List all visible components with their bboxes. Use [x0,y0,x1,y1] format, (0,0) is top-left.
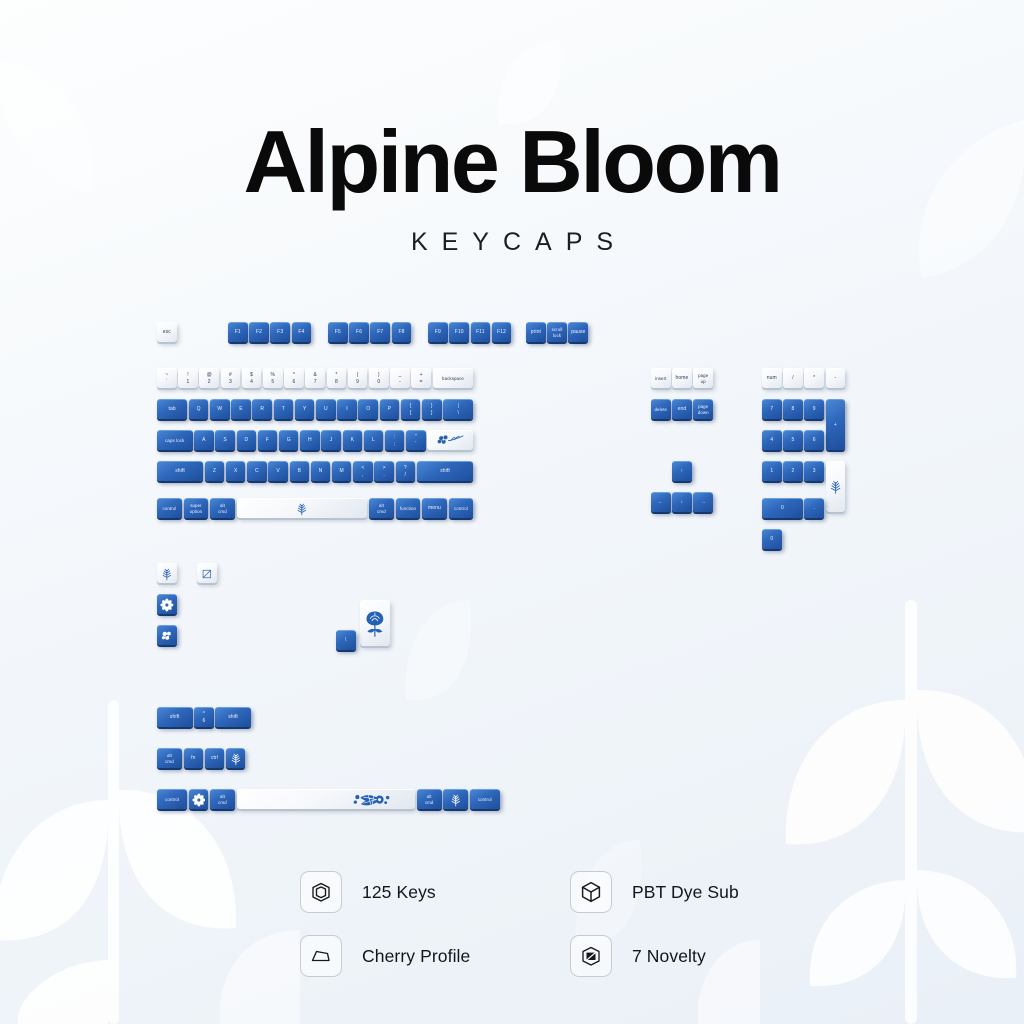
keycap-y[interactable]: Y [295,399,315,419]
keycap-legend: F3 [277,329,283,335]
keycap-legend: E [239,406,242,412]
keycap-legend: 7 [770,406,773,412]
keycap-legend: + [834,422,837,428]
keycap-legend: } ] [431,403,433,416]
keycap-key[interactable]: \ [336,630,356,650]
keycap-t[interactable]: T [274,399,294,419]
keycap-u[interactable]: U [316,399,336,419]
keycap-alt-cmd[interactable]: alt cmd [369,498,394,518]
keycap-scroll-lock[interactable]: scroll lock [547,322,567,342]
keycap-key[interactable]: { [ [401,399,421,419]
keycap-fern-white-on-blue[interactable] [443,789,468,809]
keycap-key[interactable]: ↓ [672,492,692,512]
keycap-legend: print [531,329,541,335]
keycap-3[interactable]: 3 [804,461,824,481]
keycap-legend: F2 [256,329,262,335]
keycap-f11[interactable]: F11 [471,322,491,342]
keycap-spacebar-bloom[interactable] [237,789,416,809]
keycap-legend: Q [197,406,201,412]
keycap-legend: ctrl [211,755,218,761]
keycap-pause[interactable]: pause [568,322,588,342]
keycap-legend: F [266,437,269,443]
keycap-legend: C [255,468,259,474]
keycap-flower-sprig[interactable] [427,430,473,450]
keycap-legend: W [217,406,222,412]
keycap-w[interactable]: W [210,399,230,419]
keycap-legend: H [308,437,312,443]
keycap-legend: control [165,797,179,803]
profile-icon [300,935,342,977]
keycap-i[interactable]: I [337,399,357,419]
keycap-key[interactable]: → [693,492,713,512]
keycap-shift[interactable]: shift [417,461,474,481]
keycap-legend: * 8 [335,372,338,385]
keycap-legend: " ' [415,434,417,447]
keycap-key[interactable]: < , [353,461,373,481]
spacebar-bloom-icon [348,791,394,808]
keycap-legend: < , [361,465,364,478]
keycap-legend: # 3 [229,372,232,385]
keycap-legend: : ; [394,434,396,447]
keycap-legend: insert [655,376,666,382]
keycap-legend: ^ 6 [202,711,205,724]
keycap-f9[interactable]: F9 [428,322,448,342]
keycap-legend: . [813,505,815,511]
keycap-legend: shift [228,714,238,720]
keycap-legend: ← [658,499,663,505]
keycap-legend: > . [383,465,386,478]
keycap-legend: N [319,468,323,474]
keycap-fern-small[interactable] [157,563,177,583]
keycap-legend: F11 [476,329,485,335]
keycap-legend: control [454,506,468,512]
keycap-2[interactable]: 2 [783,461,803,481]
keycap-legend: shift [440,468,450,474]
keycap-q[interactable]: Q [189,399,209,419]
keycap-function[interactable]: function [396,498,421,518]
keycap-alt-cmd[interactable]: alt cmd [157,748,182,768]
keycap-7[interactable]: & 7 [305,368,325,388]
keycap-legend: Y [303,406,306,412]
keycap-0[interactable]: 0 [762,498,803,518]
keycap-legend: shift [170,714,180,720]
keycap-fn[interactable]: fn [184,748,204,768]
fern-small-icon [160,567,174,581]
keycap-legend: alt cmd [218,503,227,514]
keycap-legend: F12 [497,329,506,335]
keycap-legend: F1 [235,329,241,335]
fern-icon [256,502,348,516]
keycap-legend: 1 [770,468,773,474]
header: Alpine Bloom KEYCAPS [0,118,1024,257]
keycap-9[interactable]: ( 9 [348,368,368,388]
keycap-r[interactable]: R [252,399,272,419]
keycap-key[interactable]: / [783,368,803,388]
keycap-legend: U [324,406,328,412]
novelty-keycap-icon [570,935,612,977]
keycap-legend: ! 1 [187,372,190,385]
blossom-white-icon [160,629,174,643]
spec-item-7-novelty: 7 Novelty [570,924,840,988]
keycap-j[interactable]: J [321,430,341,450]
keycap-9[interactable]: 9 [804,399,824,419]
keycap-slash-box[interactable] [197,563,217,583]
slash-box-icon [200,567,214,581]
keycap-key[interactable]: ← [651,492,671,512]
keycap-insert[interactable]: insert [651,368,671,388]
keycap-legend: ( 9 [356,372,359,385]
keycap-key[interactable]: ~ ` [157,368,177,388]
keycap-key[interactable]: } ] [422,399,442,419]
keycap-legend: 0 [781,505,784,511]
keycap-f10[interactable]: F10 [449,322,469,342]
keycap-p[interactable]: P [380,399,400,419]
keycap-legend: 3 [813,468,816,474]
keycap-key[interactable]: > . [374,461,394,481]
keycap-d[interactable]: D [237,430,257,450]
keycap-legend: page down [698,404,709,415]
keycap-key[interactable]: _ - [390,368,410,388]
keycap-legend: alt cmd [165,753,174,764]
keycap-legend: alt cmd [425,794,434,805]
keycap-legend: → [701,499,706,505]
keycap-legend: control [163,506,177,512]
keycap-tab[interactable]: tab [157,399,187,419]
keycap-legend: 5 [792,437,795,443]
keycap-legend: I [346,406,348,412]
keycap-legend: 8 [792,406,795,412]
keycap-legend: esc [163,329,171,335]
keycap-legend: | \ [458,403,460,416]
keycap-0[interactable]: 0 [762,529,782,549]
keycap-key[interactable]: ↑ [672,461,692,481]
keycap-legend: _ - [399,372,402,385]
keycap-1[interactable]: 1 [762,461,782,481]
flower-sprig-icon [436,433,465,447]
keycap-fern[interactable] [237,498,368,518]
keycap-legend: alt cmd [377,503,386,514]
keycap-legend: fn [191,755,195,761]
keycap-0[interactable]: ) 0 [369,368,389,388]
keycap-alt-cmd[interactable]: alt cmd [417,789,442,809]
keycap-legend: A [202,437,205,443]
keycap-legend: 2 [792,468,795,474]
keycap-legend: & 7 [313,372,316,385]
spec-badge-grid: 125 Keys PBT Dye Sub Cherry Profile [300,860,840,988]
keycap-legend: B [298,468,301,474]
keycap-key[interactable]: ? / [396,461,416,481]
keycap-control[interactable]: control [470,789,500,809]
keycap-x[interactable]: X [226,461,246,481]
keycap-page-up[interactable]: page up [693,368,713,388]
keycap-legend: super option [190,503,203,514]
page-subtitle: KEYCAPS [0,228,1024,257]
keycap-legend: * [813,375,815,381]
keycap-7[interactable]: 7 [762,399,782,419]
keycap-legend: pause [571,329,585,335]
fern-white-on-blue-icon [229,752,243,766]
keycap-legend: shift [175,468,185,474]
keycap-c[interactable]: C [247,461,267,481]
keycap-f12[interactable]: F12 [492,322,512,342]
keycap-5[interactable]: % 5 [263,368,283,388]
keycap-f8[interactable]: F8 [392,322,412,342]
keycap-backspace[interactable]: backspace [433,368,474,388]
keycap-f4[interactable]: F4 [292,322,312,342]
keycap-legend: \ [345,637,347,643]
keycap-fern-tall[interactable] [826,461,846,512]
flower-white-on-blue-icon [192,793,206,807]
keycap-legend: ^ 6 [293,372,296,385]
keycap-b[interactable]: B [290,461,310,481]
keycap-legend: @ 2 [207,372,212,385]
keycap-4[interactable]: 4 [762,430,782,450]
spec-label: Cherry Profile [362,946,470,967]
page-title: Alpine Bloom [0,118,1024,206]
keycap-legend: ) 0 [377,372,380,385]
keycap-legend: P [388,406,391,412]
keycap-s[interactable]: S [215,430,235,450]
keycap-key[interactable]: " ' [406,430,426,450]
keycap-legend: F8 [398,329,404,335]
keycap-legend: S [223,437,226,443]
keycap-alt-cmd[interactable]: alt cmd [210,789,235,809]
keycap-legend: R [260,406,264,412]
keycap-home[interactable]: home [672,368,692,388]
keycap-3[interactable]: # 3 [221,368,241,388]
keycap-legend: 6 [813,437,816,443]
spec-item-125-keys: 125 Keys [300,860,570,924]
spec-label: 125 Keys [362,882,436,903]
keycap-num[interactable]: num [762,368,782,388]
keycap-legend: function [400,506,416,512]
keycap-key[interactable]: . [804,498,824,518]
keycap-6[interactable]: ^ 6 [194,707,214,727]
keycap-legend: + = [420,372,423,385]
keycap-f1[interactable]: F1 [228,322,248,342]
keycap-caps-lock[interactable]: caps lock [157,430,193,450]
keycap-f3[interactable]: F3 [270,322,290,342]
fern-tall-icon [828,470,843,504]
keycap-legend: { [ [410,403,412,416]
keycap-esc[interactable]: esc [157,322,177,342]
keycap-menu[interactable]: menu [422,498,447,518]
keycap-5[interactable]: 5 [783,430,803,450]
keycap-legend: backspace [442,376,464,382]
spec-label: PBT Dye Sub [632,882,739,903]
keycap-f5[interactable]: F5 [328,322,348,342]
keycap-legend: F7 [377,329,383,335]
fern-white-on-blue-icon [447,793,464,807]
keycap-key[interactable]: + = [411,368,431,388]
keycap-legend: page up [698,373,708,384]
keycap-g[interactable]: G [279,430,299,450]
keycap-key[interactable]: - [826,368,846,388]
keycap-legend: X [234,468,237,474]
keycap-8[interactable]: * 8 [327,368,347,388]
keycap-a[interactable]: A [194,430,214,450]
keycap-legend: 9 [813,406,816,412]
keycap-key[interactable]: + [826,399,846,450]
keycap-f6[interactable]: F6 [349,322,369,342]
keycap-control[interactable]: control [157,498,182,518]
keycap-legend: tab [168,406,175,412]
keycap-legend: home [676,375,689,381]
keycap-super-option[interactable]: super option [184,498,209,518]
daisy-white-icon [160,598,174,612]
keycap-6[interactable]: ^ 6 [284,368,304,388]
keycap-daisy-white[interactable] [157,594,177,614]
keycap-f[interactable]: F [258,430,278,450]
keycap-legend: % 5 [271,372,276,385]
keycap-flower-white-on-blue[interactable] [189,789,209,809]
keycap-key[interactable]: : ; [385,430,405,450]
keycap-legend: ↑ [681,468,684,474]
keycap-legend: D [244,437,248,443]
keycap-control[interactable]: control [449,498,474,518]
keycap-legend: caps lock [165,438,184,444]
keycap-legend: $ 4 [250,372,253,385]
keycap-icon [300,871,342,913]
keycap-legend: delete [655,407,668,413]
keycap-f2[interactable]: F2 [249,322,269,342]
keycap-legend: 0 [770,536,773,542]
keycap-legend: control [478,797,492,803]
keycap-legend: O [366,406,370,412]
keycap-n[interactable]: N [311,461,331,481]
keycap-e[interactable]: E [231,399,251,419]
keycap-control[interactable]: control [157,789,187,809]
keycap-legend: scroll lock [552,327,563,338]
keycap-legend: ↓ [681,499,684,505]
keycap-8[interactable]: 8 [783,399,803,419]
keycap-6[interactable]: 6 [804,430,824,450]
keycap-shift[interactable]: shift [157,707,193,727]
keycap-o[interactable]: O [358,399,378,419]
spec-item-pbt-dye-sub: PBT Dye Sub [570,860,840,924]
keycap-alt-cmd[interactable]: alt cmd [210,498,235,518]
keycap-legend: J [330,437,333,443]
keycap-legend: F9 [435,329,441,335]
keycap-l[interactable]: L [364,430,384,450]
keycap-2[interactable]: @ 2 [199,368,219,388]
keycap-v[interactable]: V [268,461,288,481]
keycap-blossom-white[interactable] [157,625,177,645]
keycap-h[interactable]: H [300,430,320,450]
keycap-ctrl[interactable]: ctrl [205,748,225,768]
keycap-legend: V [276,468,279,474]
keycap-legend: menu [428,505,441,511]
keycap-rose-tall[interactable] [360,600,390,646]
keycap-legend: 4 [770,437,773,443]
keycap-shift[interactable]: shift [215,707,251,727]
keycap-legend: end [678,406,687,412]
keycap-key[interactable]: | \ [443,399,473,419]
spec-label: 7 Novelty [632,946,706,967]
keycap-z[interactable]: Z [205,461,225,481]
keycap-f7[interactable]: F7 [370,322,390,342]
keycap-fern-white-on-blue[interactable] [226,748,246,768]
keycap-legend: alt cmd [218,794,227,805]
keycap-legend: T [282,406,285,412]
keycap-4[interactable]: $ 4 [242,368,262,388]
keycap-legend: L [372,437,375,443]
keycap-legend: G [287,437,291,443]
keycap-legend: F4 [298,329,304,335]
keycap-shift[interactable]: shift [157,461,203,481]
keycap-legend: - [835,375,837,381]
keycap-legend: F10 [455,329,464,335]
keycap-key[interactable]: * [804,368,824,388]
keycap-delete[interactable]: delete [651,399,671,419]
keycap-print[interactable]: print [526,322,546,342]
keycap-legend: Z [213,468,216,474]
cube-icon [570,871,612,913]
keycap-legend: F6 [356,329,362,335]
keycap-legend: K [351,437,354,443]
keycap-legend: M [340,468,344,474]
keycap-legend: F5 [335,329,341,335]
keycap-page-down[interactable]: page down [693,399,713,419]
keycap-end[interactable]: end [672,399,692,419]
rose-tall-icon [364,605,386,642]
keycap-legend: ~ ` [165,372,168,385]
keycap-legend: ? / [404,465,407,478]
keycap-legend: num [767,375,777,381]
keycap-m[interactable]: M [332,461,352,481]
keycap-1[interactable]: ! 1 [178,368,198,388]
keycap-legend: / [792,375,794,381]
keycap-k[interactable]: K [343,430,363,450]
spec-item-cherry-profile: Cherry Profile [300,924,570,988]
